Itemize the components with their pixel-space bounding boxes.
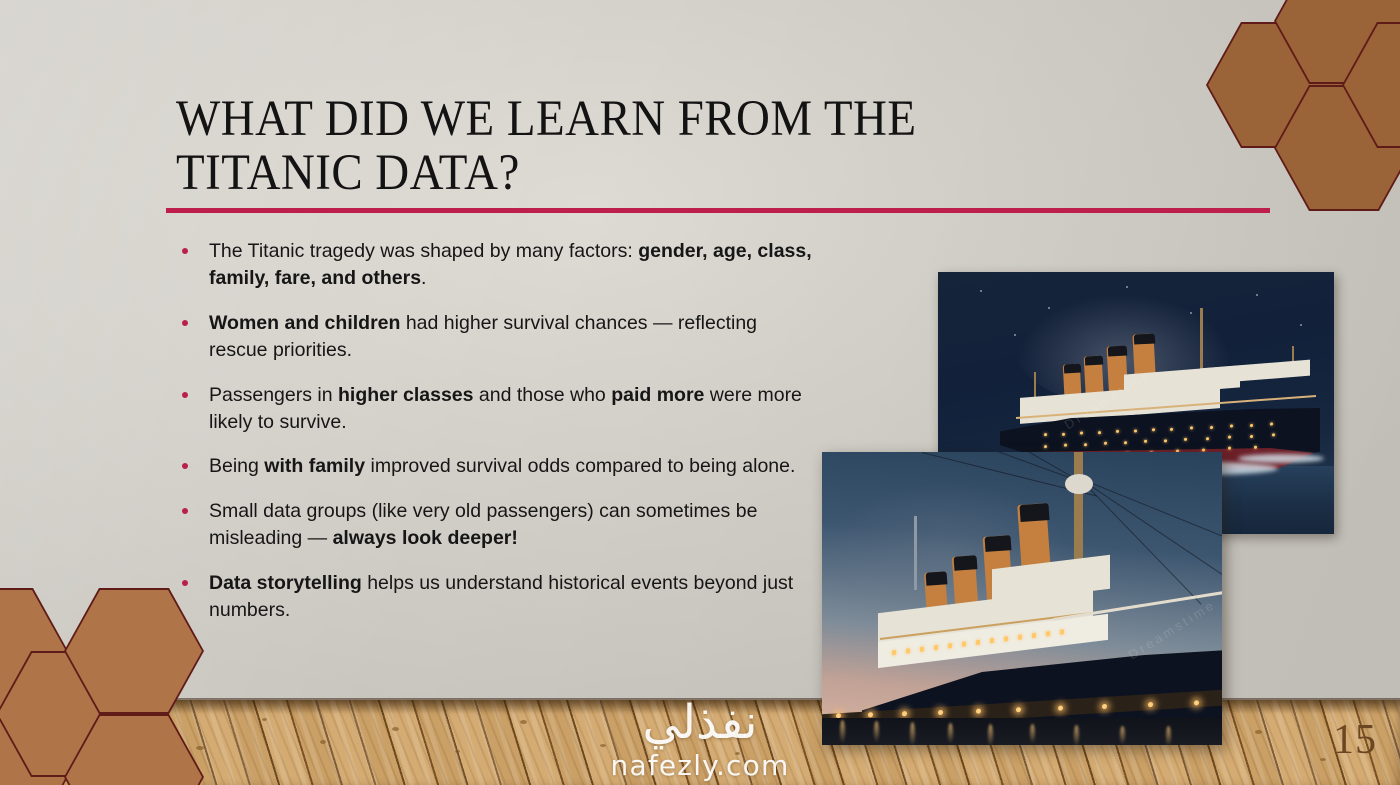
slide-title: WHAT DID WE LEARN FROM THE TITANIC DATA? — [176, 92, 1096, 200]
page-number: 15 — [1333, 716, 1377, 764]
bullet-dot-icon — [182, 248, 188, 254]
bullet-item: Passengers in higher classes and those w… — [176, 382, 816, 436]
bullet-dot-icon — [182, 392, 188, 398]
bullet-item: Being with family improved survival odds… — [176, 453, 816, 480]
bullet-item: Data storytelling helps us understand hi… — [176, 570, 816, 624]
bullet-text: Being with family improved survival odds… — [209, 455, 795, 477]
bullet-text: Women and children had higher survival c… — [209, 312, 757, 361]
bullet-dot-icon — [182, 320, 188, 326]
title-accent-rule — [166, 208, 1270, 213]
bullet-item: The Titanic tragedy was shaped by many f… — [176, 238, 816, 292]
bullet-dot-icon — [182, 580, 188, 586]
titanic-at-dock-night-image: Dreamstime — [822, 452, 1222, 745]
bullet-text: Passengers in higher classes and those w… — [209, 384, 802, 433]
bullet-item: Women and children had higher survival c… — [176, 310, 816, 364]
bullet-list: The Titanic tragedy was shaped by many f… — [176, 238, 816, 624]
bullet-dot-icon — [182, 463, 188, 469]
bullet-text: The Titanic tragedy was shaped by many f… — [209, 240, 812, 289]
bullet-dot-icon — [182, 508, 188, 514]
bullet-item: Small data groups (like very old passeng… — [176, 498, 816, 552]
bullet-text: Data storytelling helps us understand hi… — [209, 572, 793, 621]
bullet-text: Small data groups (like very old passeng… — [209, 500, 757, 549]
presentation-slide: WHAT DID WE LEARN FROM THE TITANIC DATA?… — [0, 0, 1400, 785]
